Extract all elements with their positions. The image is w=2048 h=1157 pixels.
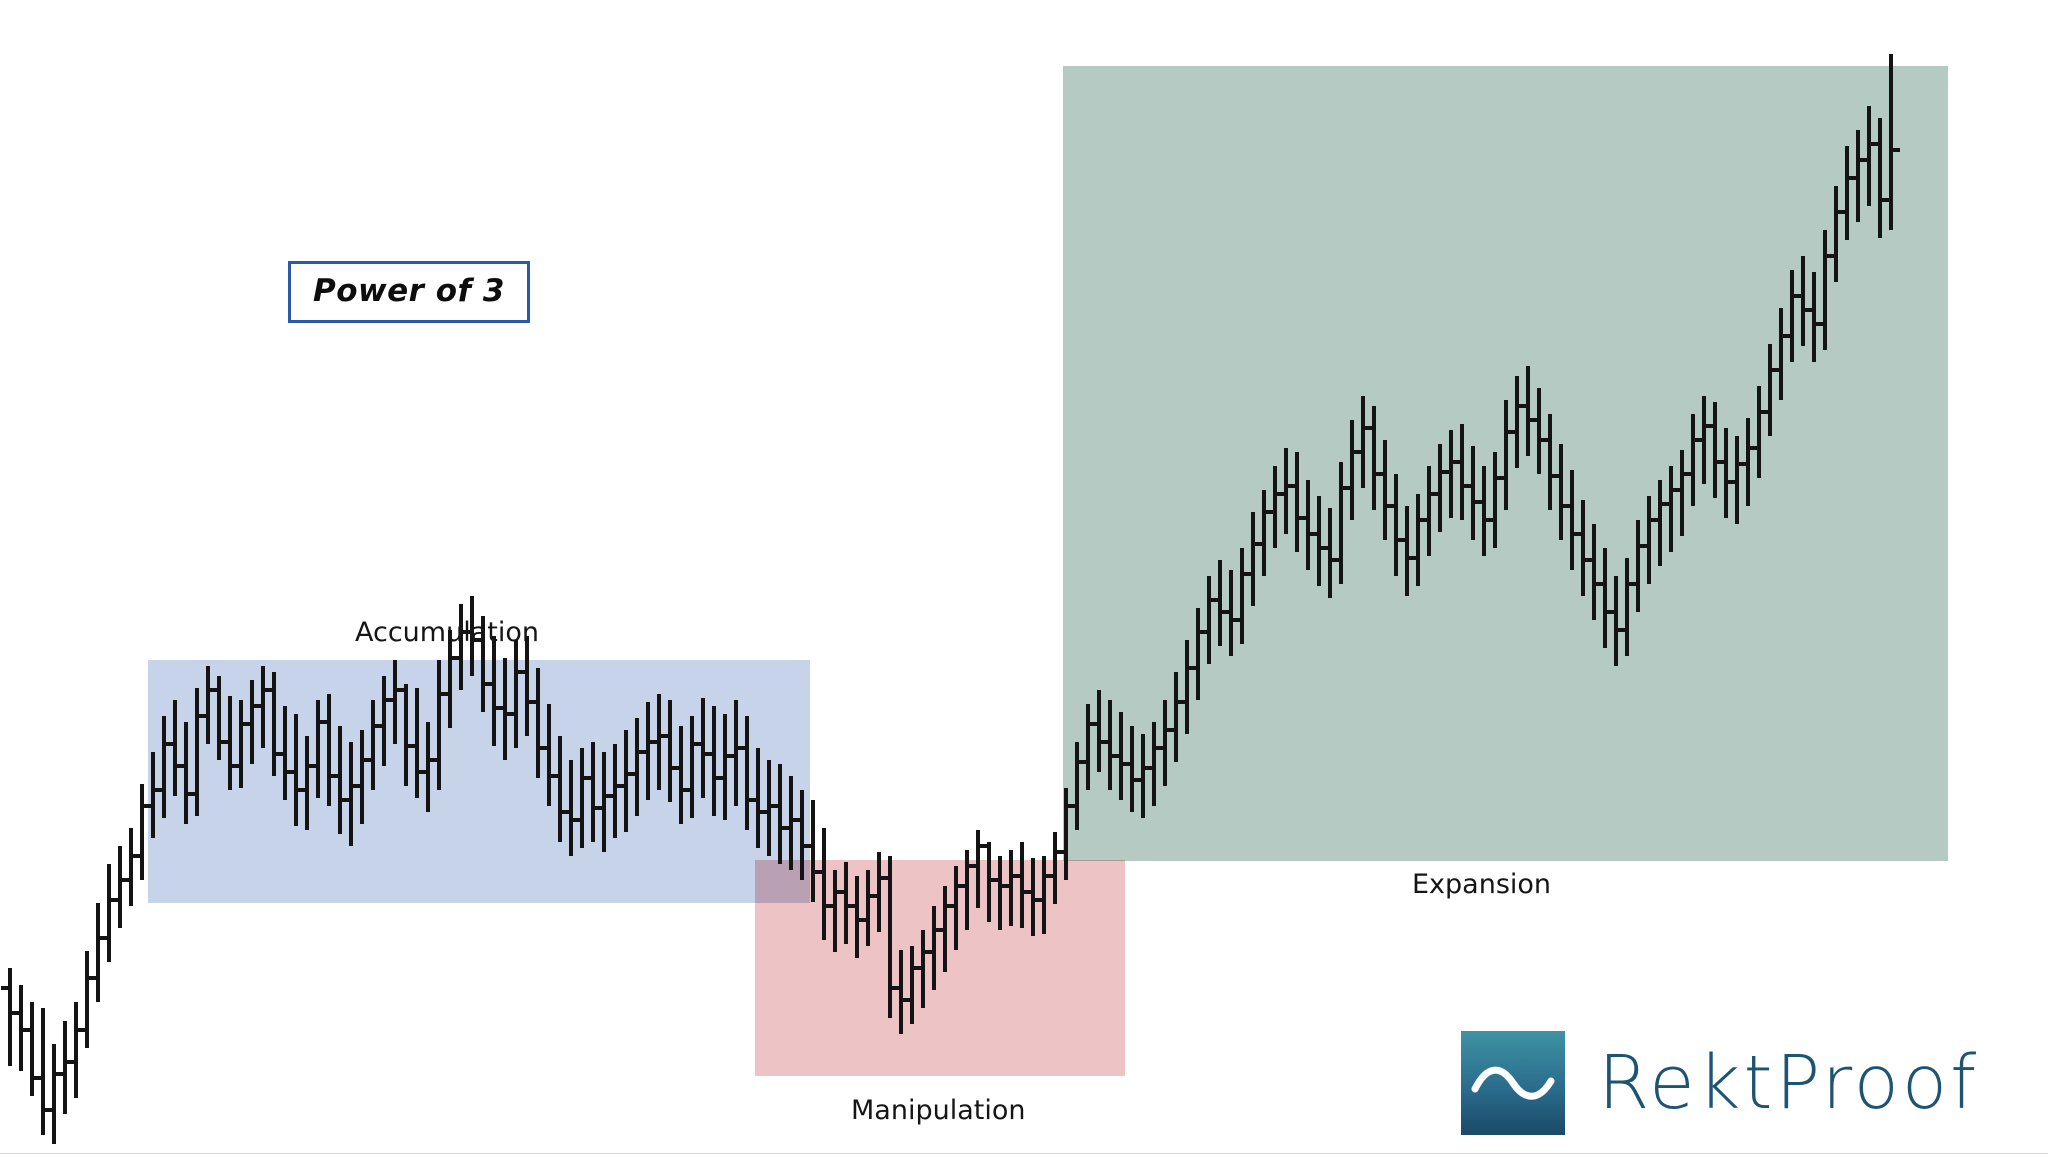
accumulation-label: Accumulation [355, 617, 539, 648]
brand-wordmark: RektProof [1598, 1046, 1979, 1120]
brand-logo: RektProof [1461, 1031, 1979, 1135]
chart-canvas: Accumulation Manipulation Expansion Powe… [0, 0, 2048, 1157]
manipulation-label: Manipulation [851, 1095, 1025, 1126]
sine-wave-icon [1461, 1031, 1565, 1135]
title-badge: Power of 3 [288, 261, 530, 323]
bottom-divider [0, 1153, 2048, 1154]
page-title: Power of 3 [313, 273, 505, 309]
expansion-label: Expansion [1412, 869, 1551, 900]
ohlc-bar-series [0, 0, 2048, 1157]
